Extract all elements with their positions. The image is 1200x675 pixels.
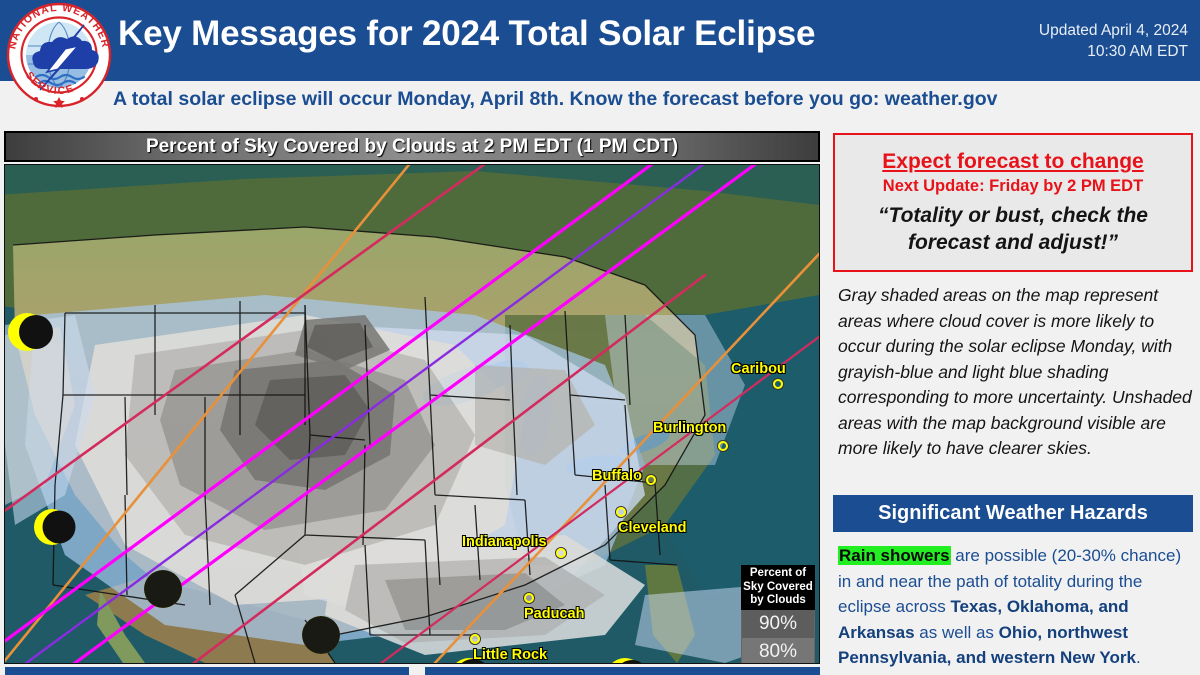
bottom-panel-strip-left: [5, 667, 409, 675]
map-title-bar: Percent of Sky Covered by Clouds at 2 PM…: [4, 131, 820, 162]
hazard-text-2: as well as: [915, 623, 999, 642]
cloud-cover-legend: Percent of Sky Covered by Clouds 90% 80%…: [741, 565, 815, 664]
city-label-cleveland: Cleveland: [618, 520, 687, 536]
city-label-indianapolis: Indianapolis: [462, 534, 547, 550]
nws-seal-icon: NATIONAL WEATHER SERVICE: [6, 2, 112, 108]
updated-date: Updated April 4, 2024: [1039, 20, 1188, 41]
city-dot-caribou: [773, 379, 783, 389]
legend-band-80: 80%: [741, 638, 815, 665]
hazard-highlight-rain-showers: Rain showers: [838, 546, 951, 565]
map-title: Percent of Sky Covered by Clouds at 2 PM…: [6, 133, 818, 160]
eclipse-key-messages-graphic: Key Messages for 2024 Total Solar Eclips…: [0, 0, 1200, 675]
legend-title: Percent of Sky Covered by Clouds: [741, 565, 815, 610]
page-header: Key Messages for 2024 Total Solar Eclips…: [0, 0, 1200, 81]
legend-title-line3: by Clouds: [742, 594, 814, 608]
legend-title-line1: Percent of: [742, 567, 814, 581]
subtitle-text: A total solar eclipse will occur Monday,…: [113, 88, 998, 111]
updated-timestamp: Updated April 4, 2024 10:30 AM EDT: [1039, 20, 1188, 62]
city-dot-burlington: [718, 441, 728, 451]
alert-quote: “Totality or bust, check the forecast an…: [835, 202, 1191, 256]
city-dot-little-rock: [470, 634, 480, 644]
city-label-little-rock: Little Rock: [473, 647, 547, 663]
city-dot-cleveland: [616, 507, 626, 517]
map-explanation-text: Gray shaded areas on the map represent a…: [838, 283, 1193, 462]
hazard-text-3: .: [1136, 648, 1141, 667]
hazards-heading-bar: Significant Weather Hazards: [833, 495, 1193, 532]
hazards-body-text: Rain showers are possible (20-30% chance…: [838, 543, 1193, 671]
bottom-panel-strip-right: [425, 667, 820, 675]
city-dot-paducah: [524, 593, 534, 603]
map-graphic: [5, 165, 819, 663]
alert-next-update: Next Update: Friday by 2 PM EDT: [883, 175, 1143, 197]
hazards-heading: Significant Weather Hazards: [833, 495, 1193, 532]
city-dot-indianapolis: [556, 548, 566, 558]
city-label-caribou: Caribou: [731, 361, 786, 377]
city-label-paducah: Paducah: [524, 606, 584, 622]
alert-headline: Expect forecast to change: [882, 149, 1143, 174]
map-canvas[interactable]: Caribou Burlington Buffalo Cleveland Ind…: [4, 164, 820, 664]
cloud-cover-map-panel: Percent of Sky Covered by Clouds at 2 PM…: [4, 131, 820, 664]
legend-band-90: 90%: [741, 610, 815, 638]
city-label-burlington: Burlington: [653, 420, 726, 436]
updated-time: 10:30 AM EDT: [1039, 41, 1188, 62]
legend-title-line2: Sky Covered: [742, 581, 814, 595]
city-label-buffalo: Buffalo: [592, 468, 642, 484]
page-title: Key Messages for 2024 Total Solar Eclips…: [118, 14, 815, 54]
city-dot-buffalo: [646, 475, 656, 485]
forecast-change-alert-box: Expect forecast to change Next Update: F…: [833, 133, 1193, 272]
